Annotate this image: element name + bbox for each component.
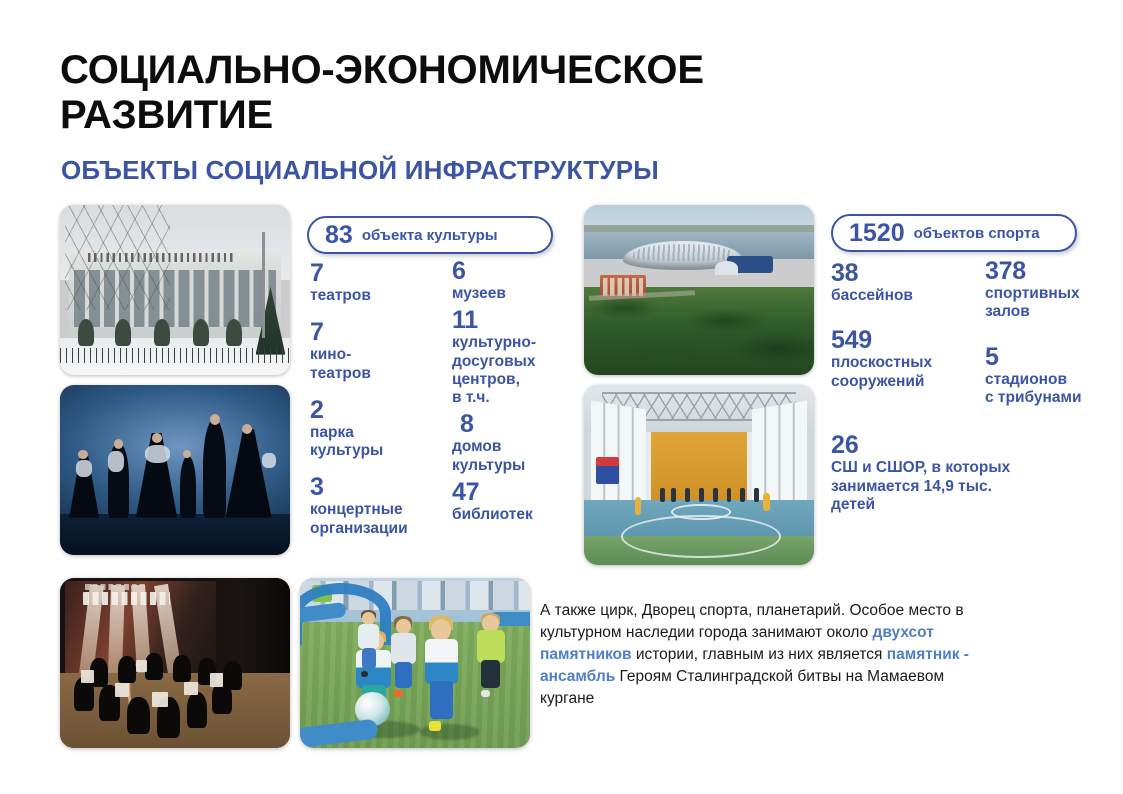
stat-item: 7 театров (310, 260, 422, 305)
stat-item: 2 парка культуры (310, 397, 422, 461)
stat-item: 8 домов культуры (452, 411, 570, 475)
photo-sports-hall (584, 385, 814, 565)
photo-library (60, 205, 290, 375)
stat-item: 5 стадионов с трибунами (985, 344, 1121, 408)
stat-number: 8 (452, 411, 570, 437)
stat-item: 47 библиотек (452, 479, 570, 524)
slide-root: СОЦИАЛЬНО-ЭКОНОМИЧЕСКОЕ РАЗВИТИЕ ОБЪЕКТЫ… (0, 0, 1123, 794)
stat-label: театров (310, 287, 422, 305)
footnote-text: А также цирк, Дворец спорта, планетарий.… (540, 600, 980, 710)
photo-stadium (584, 205, 814, 375)
stat-label: бассейнов (831, 287, 979, 305)
stat-label: СШ и СШОР, в которых занимается 14,9 тыс… (831, 459, 1121, 515)
culture-stats-column-left: 7 театров 7 кино- театров 2 парка культу… (310, 260, 422, 552)
stat-label: домов культуры (452, 438, 570, 475)
stat-number: 3 (310, 474, 422, 500)
stat-item: 6 музеев (452, 258, 570, 303)
stat-number: 378 (985, 258, 1121, 284)
stat-label: кино- театров (310, 346, 422, 383)
stat-label: парка культуры (310, 424, 422, 461)
stat-label: культурно- досуговых центров, в т.ч. (452, 334, 570, 407)
stat-number: 11 (452, 307, 570, 333)
stat-label: библиотек (452, 506, 570, 524)
stat-label: концертные организации (310, 501, 422, 538)
stat-number: 6 (452, 258, 570, 284)
sports-stats-column-left: 38 бассейнов 549 плоскостных сооружений (831, 260, 979, 413)
stat-label: музеев (452, 285, 570, 303)
stat-label: спортивных залов (985, 285, 1121, 322)
badge-sports-label: объектов спорта (914, 226, 1040, 241)
stat-item: 11 культурно- досуговых центров, в т.ч. (452, 307, 570, 407)
stat-number: 47 (452, 479, 570, 505)
stat-number: 38 (831, 260, 979, 286)
stat-number: 7 (310, 319, 422, 345)
badge-sports-number: 1520 (849, 221, 905, 246)
stat-label: плоскостных сооружений (831, 354, 979, 391)
stat-item: 3 концертные организации (310, 474, 422, 538)
page-subtitle: ОБЪЕКТЫ СОЦИАЛЬНОЙ ИНФРАСТРУКТУРЫ (61, 155, 921, 186)
stat-number: 2 (310, 397, 422, 423)
badge-culture-number: 83 (325, 223, 353, 248)
badge-culture-label: объекта культуры (362, 228, 498, 243)
culture-stats-column-right: 6 музеев 11 культурно- досуговых центров… (452, 258, 570, 528)
footnote-part-2: истории, главным из них является (632, 646, 887, 663)
photo-philharmonic (60, 578, 290, 748)
stat-number: 549 (831, 327, 979, 353)
stat-item: 549 плоскостных сооружений (831, 327, 979, 391)
sports-stat-sport-schools: 26 СШ и СШОР, в которых занимается 14,9 … (831, 432, 1121, 515)
page-title: СОЦИАЛЬНО-ЭКОНОМИЧЕСКОЕ РАЗВИТИЕ (60, 48, 880, 138)
stat-item: 7 кино- театров (310, 319, 422, 383)
photo-dance-performance (60, 385, 290, 555)
stat-number: 5 (985, 344, 1121, 370)
badge-sports-objects[interactable]: 1520 объектов спорта (831, 214, 1077, 252)
stat-item: 38 бассейнов (831, 260, 979, 305)
badge-culture-objects[interactable]: 83 объекта культуры (307, 216, 553, 254)
stat-label: стадионов с трибунами (985, 371, 1121, 408)
stat-number: 26 (831, 432, 1121, 458)
stat-number: 7 (310, 260, 422, 286)
sports-stats-column-right: 378 спортивных залов 5 стадионов с трибу… (985, 258, 1121, 429)
photo-childrens-football (300, 578, 530, 748)
stat-item: 378 спортивных залов (985, 258, 1121, 322)
